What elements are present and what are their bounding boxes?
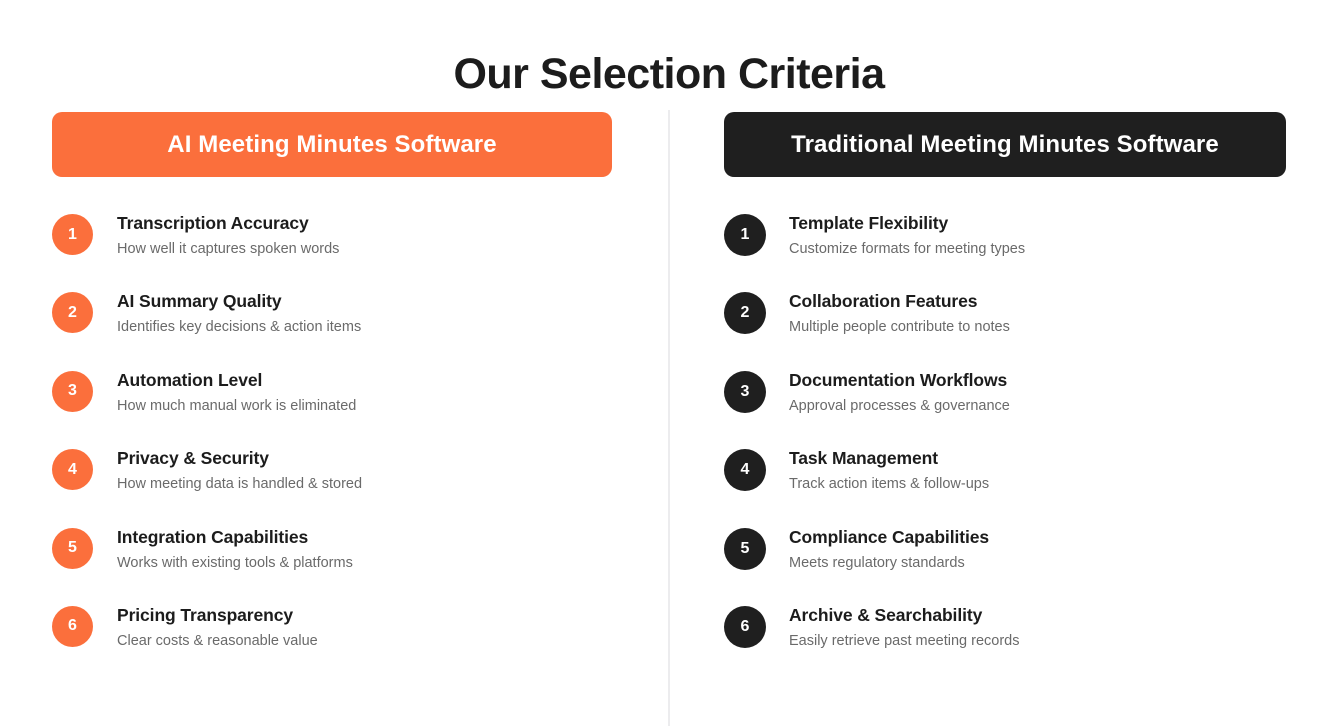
column-header-label: Traditional Meeting Minutes Software <box>791 131 1219 159</box>
list-item-title: Documentation Workflows <box>789 370 1010 391</box>
list-item[interactable]: 3 Documentation Workflows Approval proce… <box>724 369 1286 447</box>
list-item-text: Collaboration Features Multiple people c… <box>789 290 1010 336</box>
item-number-badge: 6 <box>724 606 766 648</box>
item-number-badge: 6 <box>52 606 93 647</box>
criteria-list-traditional: 1 Template Flexibility Customize formats… <box>724 212 1286 682</box>
list-item-text: AI Summary Quality Identifies key decisi… <box>117 290 361 336</box>
list-item-title: Pricing Transparency <box>117 605 318 626</box>
list-item-title: Transcription Accuracy <box>117 213 339 234</box>
list-item-text: Transcription Accuracy How well it captu… <box>117 212 339 258</box>
item-number-badge: 5 <box>52 528 93 569</box>
list-item[interactable]: 1 Transcription Accuracy How well it cap… <box>52 212 612 290</box>
list-item[interactable]: 6 Archive & Searchability Easily retriev… <box>724 604 1286 682</box>
list-item-text: Template Flexibility Customize formats f… <box>789 212 1025 258</box>
list-item-description: Approval processes & governance <box>789 397 1010 415</box>
item-number-badge: 2 <box>52 292 93 333</box>
list-item[interactable]: 4 Task Management Track action items & f… <box>724 447 1286 525</box>
list-item-text: Compliance Capabilities Meets regulatory… <box>789 526 989 572</box>
item-number-badge: 2 <box>724 292 766 334</box>
list-item[interactable]: 2 AI Summary Quality Identifies key deci… <box>52 290 612 368</box>
list-item-title: Automation Level <box>117 370 356 391</box>
list-item-text: Integration Capabilities Works with exis… <box>117 526 353 572</box>
list-item-description: Clear costs & reasonable value <box>117 632 318 650</box>
list-item[interactable]: 6 Pricing Transparency Clear costs & rea… <box>52 604 612 682</box>
list-item-text: Pricing Transparency Clear costs & reaso… <box>117 604 318 650</box>
list-item-title: Compliance Capabilities <box>789 527 989 548</box>
item-number-badge: 3 <box>724 371 766 413</box>
list-item-title: Task Management <box>789 448 989 469</box>
list-item-description: How well it captures spoken words <box>117 240 339 258</box>
list-item-title: Template Flexibility <box>789 213 1025 234</box>
list-item-description: Easily retrieve past meeting records <box>789 632 1020 650</box>
list-item-description: Works with existing tools & platforms <box>117 554 353 572</box>
list-item[interactable]: 5 Integration Capabilities Works with ex… <box>52 526 612 604</box>
list-item-text: Task Management Track action items & fol… <box>789 447 989 493</box>
item-number-badge: 5 <box>724 528 766 570</box>
column-divider <box>668 110 670 726</box>
list-item-description: Meets regulatory standards <box>789 554 989 572</box>
item-number-badge: 1 <box>724 214 766 256</box>
list-item-description: Customize formats for meeting types <box>789 240 1025 258</box>
criteria-list-ai: 1 Transcription Accuracy How well it cap… <box>52 212 612 682</box>
list-item-description: How much manual work is eliminated <box>117 397 356 415</box>
column-header-traditional: Traditional Meeting Minutes Software <box>724 112 1286 177</box>
page-title: Our Selection Criteria <box>0 51 1338 98</box>
list-item-title: Collaboration Features <box>789 291 1010 312</box>
list-item-text: Automation Level How much manual work is… <box>117 369 356 415</box>
column-header-ai: AI Meeting Minutes Software <box>52 112 612 177</box>
list-item-title: Integration Capabilities <box>117 527 353 548</box>
list-item-title: Archive & Searchability <box>789 605 1020 626</box>
list-item-text: Privacy & Security How meeting data is h… <box>117 447 362 493</box>
list-item-title: AI Summary Quality <box>117 291 361 312</box>
comparison-column-ai: AI Meeting Minutes Software 1 Transcript… <box>52 112 612 682</box>
list-item-description: Multiple people contribute to notes <box>789 318 1010 336</box>
list-item[interactable]: 4 Privacy & Security How meeting data is… <box>52 447 612 525</box>
list-item[interactable]: 1 Template Flexibility Customize formats… <box>724 212 1286 290</box>
list-item-description: How meeting data is handled & stored <box>117 475 362 493</box>
item-number-badge: 3 <box>52 371 93 412</box>
item-number-badge: 4 <box>724 449 766 491</box>
list-item-title: Privacy & Security <box>117 448 362 469</box>
list-item[interactable]: 3 Automation Level How much manual work … <box>52 369 612 447</box>
list-item-description: Identifies key decisions & action items <box>117 318 361 336</box>
list-item-text: Documentation Workflows Approval process… <box>789 369 1010 415</box>
comparison-column-traditional: Traditional Meeting Minutes Software 1 T… <box>724 112 1286 682</box>
column-header-label: AI Meeting Minutes Software <box>167 131 496 159</box>
list-item[interactable]: 5 Compliance Capabilities Meets regulato… <box>724 526 1286 604</box>
list-item[interactable]: 2 Collaboration Features Multiple people… <box>724 290 1286 368</box>
list-item-description: Track action items & follow-ups <box>789 475 989 493</box>
item-number-badge: 1 <box>52 214 93 255</box>
item-number-badge: 4 <box>52 449 93 490</box>
list-item-text: Archive & Searchability Easily retrieve … <box>789 604 1020 650</box>
